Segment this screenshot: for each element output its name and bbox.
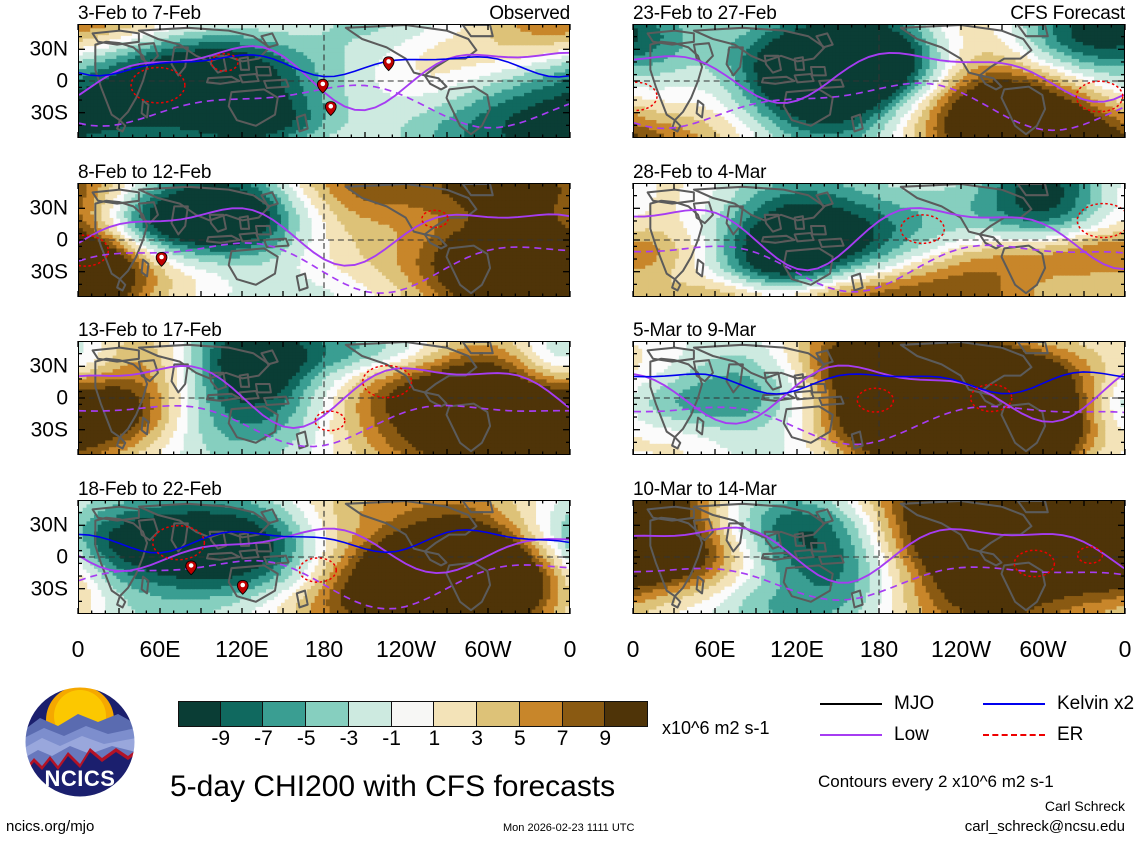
y-tick-label: 0 — [56, 230, 68, 251]
y-tick-label: 0 — [56, 547, 68, 568]
legend-label: Kelvin x2 — [1057, 693, 1134, 715]
ncics-logo-icon: NCICS — [24, 686, 136, 798]
colorbar-tick-label: 7 — [557, 727, 569, 751]
colorbar-tick-label: -5 — [297, 727, 316, 751]
author-name: Carl Schreck — [1045, 798, 1125, 814]
colorbar-tick-label: 9 — [599, 727, 611, 751]
site-url[interactable]: ncics.org/mjo — [6, 818, 94, 835]
y-tick-label: 30S — [31, 419, 68, 440]
map-panel-cfs-4: 10-Mar to 14-Mar — [633, 500, 1125, 614]
y-axis-labels: 30N030S — [6, 183, 68, 297]
map-panel-cfs-1: 23-Feb to 27-FebCFS Forecast — [633, 24, 1125, 138]
main-title: 5-day CHI200 with CFS forecasts — [170, 770, 615, 804]
panel-title: 23-Feb to 27-Feb — [633, 3, 777, 25]
y-tick-label: 30N — [29, 356, 68, 377]
legend-label: ER — [1057, 724, 1083, 746]
y-axis-labels: 30N030S — [6, 341, 68, 455]
legend-line-swatch — [983, 703, 1045, 705]
map-area — [78, 500, 570, 614]
x-tick-label: 60W — [1019, 636, 1066, 663]
y-tick-label: 30S — [31, 578, 68, 599]
x-axis-right: 060E120E180120W60W0 — [633, 636, 1125, 666]
legend-item: Low — [820, 719, 983, 750]
x-tick-label: 0 — [564, 636, 577, 663]
ncics-logo: NCICS — [24, 686, 136, 798]
panel-title: 13-Feb to 17-Feb — [78, 320, 222, 342]
map-field — [634, 25, 1124, 137]
map-field — [79, 342, 569, 454]
colorbar-ticks: -9-7-5-3-113579 — [178, 727, 648, 753]
map-field — [634, 184, 1124, 296]
author-email: carl_schreck@ncsu.edu — [965, 818, 1125, 835]
colorbar-tick-label: -7 — [254, 727, 273, 751]
y-tick-label: 30N — [29, 39, 68, 60]
legend: MJOLowKelvin x2ER — [820, 688, 1135, 748]
x-tick-label: 180 — [860, 636, 898, 663]
x-tick-label: 0 — [1119, 636, 1132, 663]
map-area — [78, 183, 570, 297]
contours-note: Contours every 2 x10^6 m2 s-1 — [818, 772, 1054, 792]
legend-label: Low — [894, 724, 929, 746]
x-tick-label: 120E — [215, 636, 269, 663]
map-area — [633, 183, 1125, 297]
colorbar-tick-label: -1 — [382, 727, 401, 751]
map-field — [634, 501, 1124, 613]
map-area — [633, 24, 1125, 138]
y-tick-label: 30S — [31, 102, 68, 123]
colorbar-tick-label: -3 — [340, 727, 359, 751]
generation-timestamp: Mon 2026-02-23 1111 UTC — [503, 822, 634, 834]
y-axis-labels: 30N030S — [6, 500, 68, 614]
map-panel-cfs-2: 28-Feb to 4-Mar — [633, 183, 1125, 297]
colorbar-tick-label: 3 — [471, 727, 483, 751]
map-panel-cfs-3: 5-Mar to 9-Mar — [633, 341, 1125, 455]
x-tick-label: 120W — [931, 636, 991, 663]
map-area — [633, 500, 1125, 614]
map-area — [633, 341, 1125, 455]
y-axis-labels: 30N030S — [6, 24, 68, 138]
legend-item: Kelvin x2 — [983, 688, 1135, 719]
y-tick-label: 0 — [56, 71, 68, 92]
x-tick-label: 0 — [72, 636, 85, 663]
y-tick-label: 30N — [29, 515, 68, 536]
map-area — [78, 341, 570, 455]
colorbar-tick-label: 5 — [514, 727, 526, 751]
panel-title: 28-Feb to 4-Mar — [633, 162, 766, 184]
map-panel-obs-4: 18-Feb to 22-Feb — [78, 500, 570, 614]
legend-line-swatch — [820, 734, 882, 736]
x-tick-label: 0 — [627, 636, 640, 663]
colorbar-units-label: x10^6 m2 s-1 — [662, 718, 770, 739]
x-tick-label: 60W — [464, 636, 511, 663]
panel-title: 10-Mar to 14-Mar — [633, 479, 777, 501]
colorbar-frame — [178, 701, 648, 727]
y-tick-label: 30N — [29, 198, 68, 219]
map-field — [79, 184, 569, 296]
figure-root: 30N030S3-Feb to 7-FebObserved 30N030S8-F… — [0, 0, 1135, 844]
legend-line-swatch — [820, 703, 882, 705]
map-field — [79, 25, 569, 137]
x-tick-label: 120W — [376, 636, 436, 663]
panel-title: 18-Feb to 22-Feb — [78, 479, 222, 501]
x-tick-label: 60E — [140, 636, 181, 663]
panel-column-tag: Observed — [489, 3, 570, 25]
legend-item: ER — [983, 719, 1135, 750]
legend-item: MJO — [820, 688, 983, 719]
map-area — [78, 24, 570, 138]
x-tick-label: 180 — [305, 636, 343, 663]
panel-title: 3-Feb to 7-Feb — [78, 3, 201, 25]
panel-title: 8-Feb to 12-Feb — [78, 162, 211, 184]
y-tick-label: 30S — [31, 261, 68, 282]
map-panel-obs-3: 13-Feb to 17-Feb — [78, 341, 570, 455]
map-field — [79, 501, 569, 613]
panel-column-tag: CFS Forecast — [1010, 3, 1125, 25]
x-tick-label: 120E — [770, 636, 824, 663]
x-tick-label: 60E — [695, 636, 736, 663]
legend-line-swatch — [983, 734, 1045, 736]
x-axis-left: 060E120E180120W60W0 — [78, 636, 570, 666]
panel-title: 5-Mar to 9-Mar — [633, 320, 756, 342]
map-panel-obs-2: 8-Feb to 12-Feb — [78, 183, 570, 297]
y-tick-label: 0 — [56, 388, 68, 409]
colorbar-tick-label: 1 — [429, 727, 441, 751]
legend-label: MJO — [894, 693, 934, 715]
colorbar-tick-label: -9 — [211, 727, 230, 751]
colorbar — [178, 701, 648, 727]
map-field — [634, 342, 1124, 454]
map-panel-obs-1: 3-Feb to 7-FebObserved — [78, 24, 570, 138]
